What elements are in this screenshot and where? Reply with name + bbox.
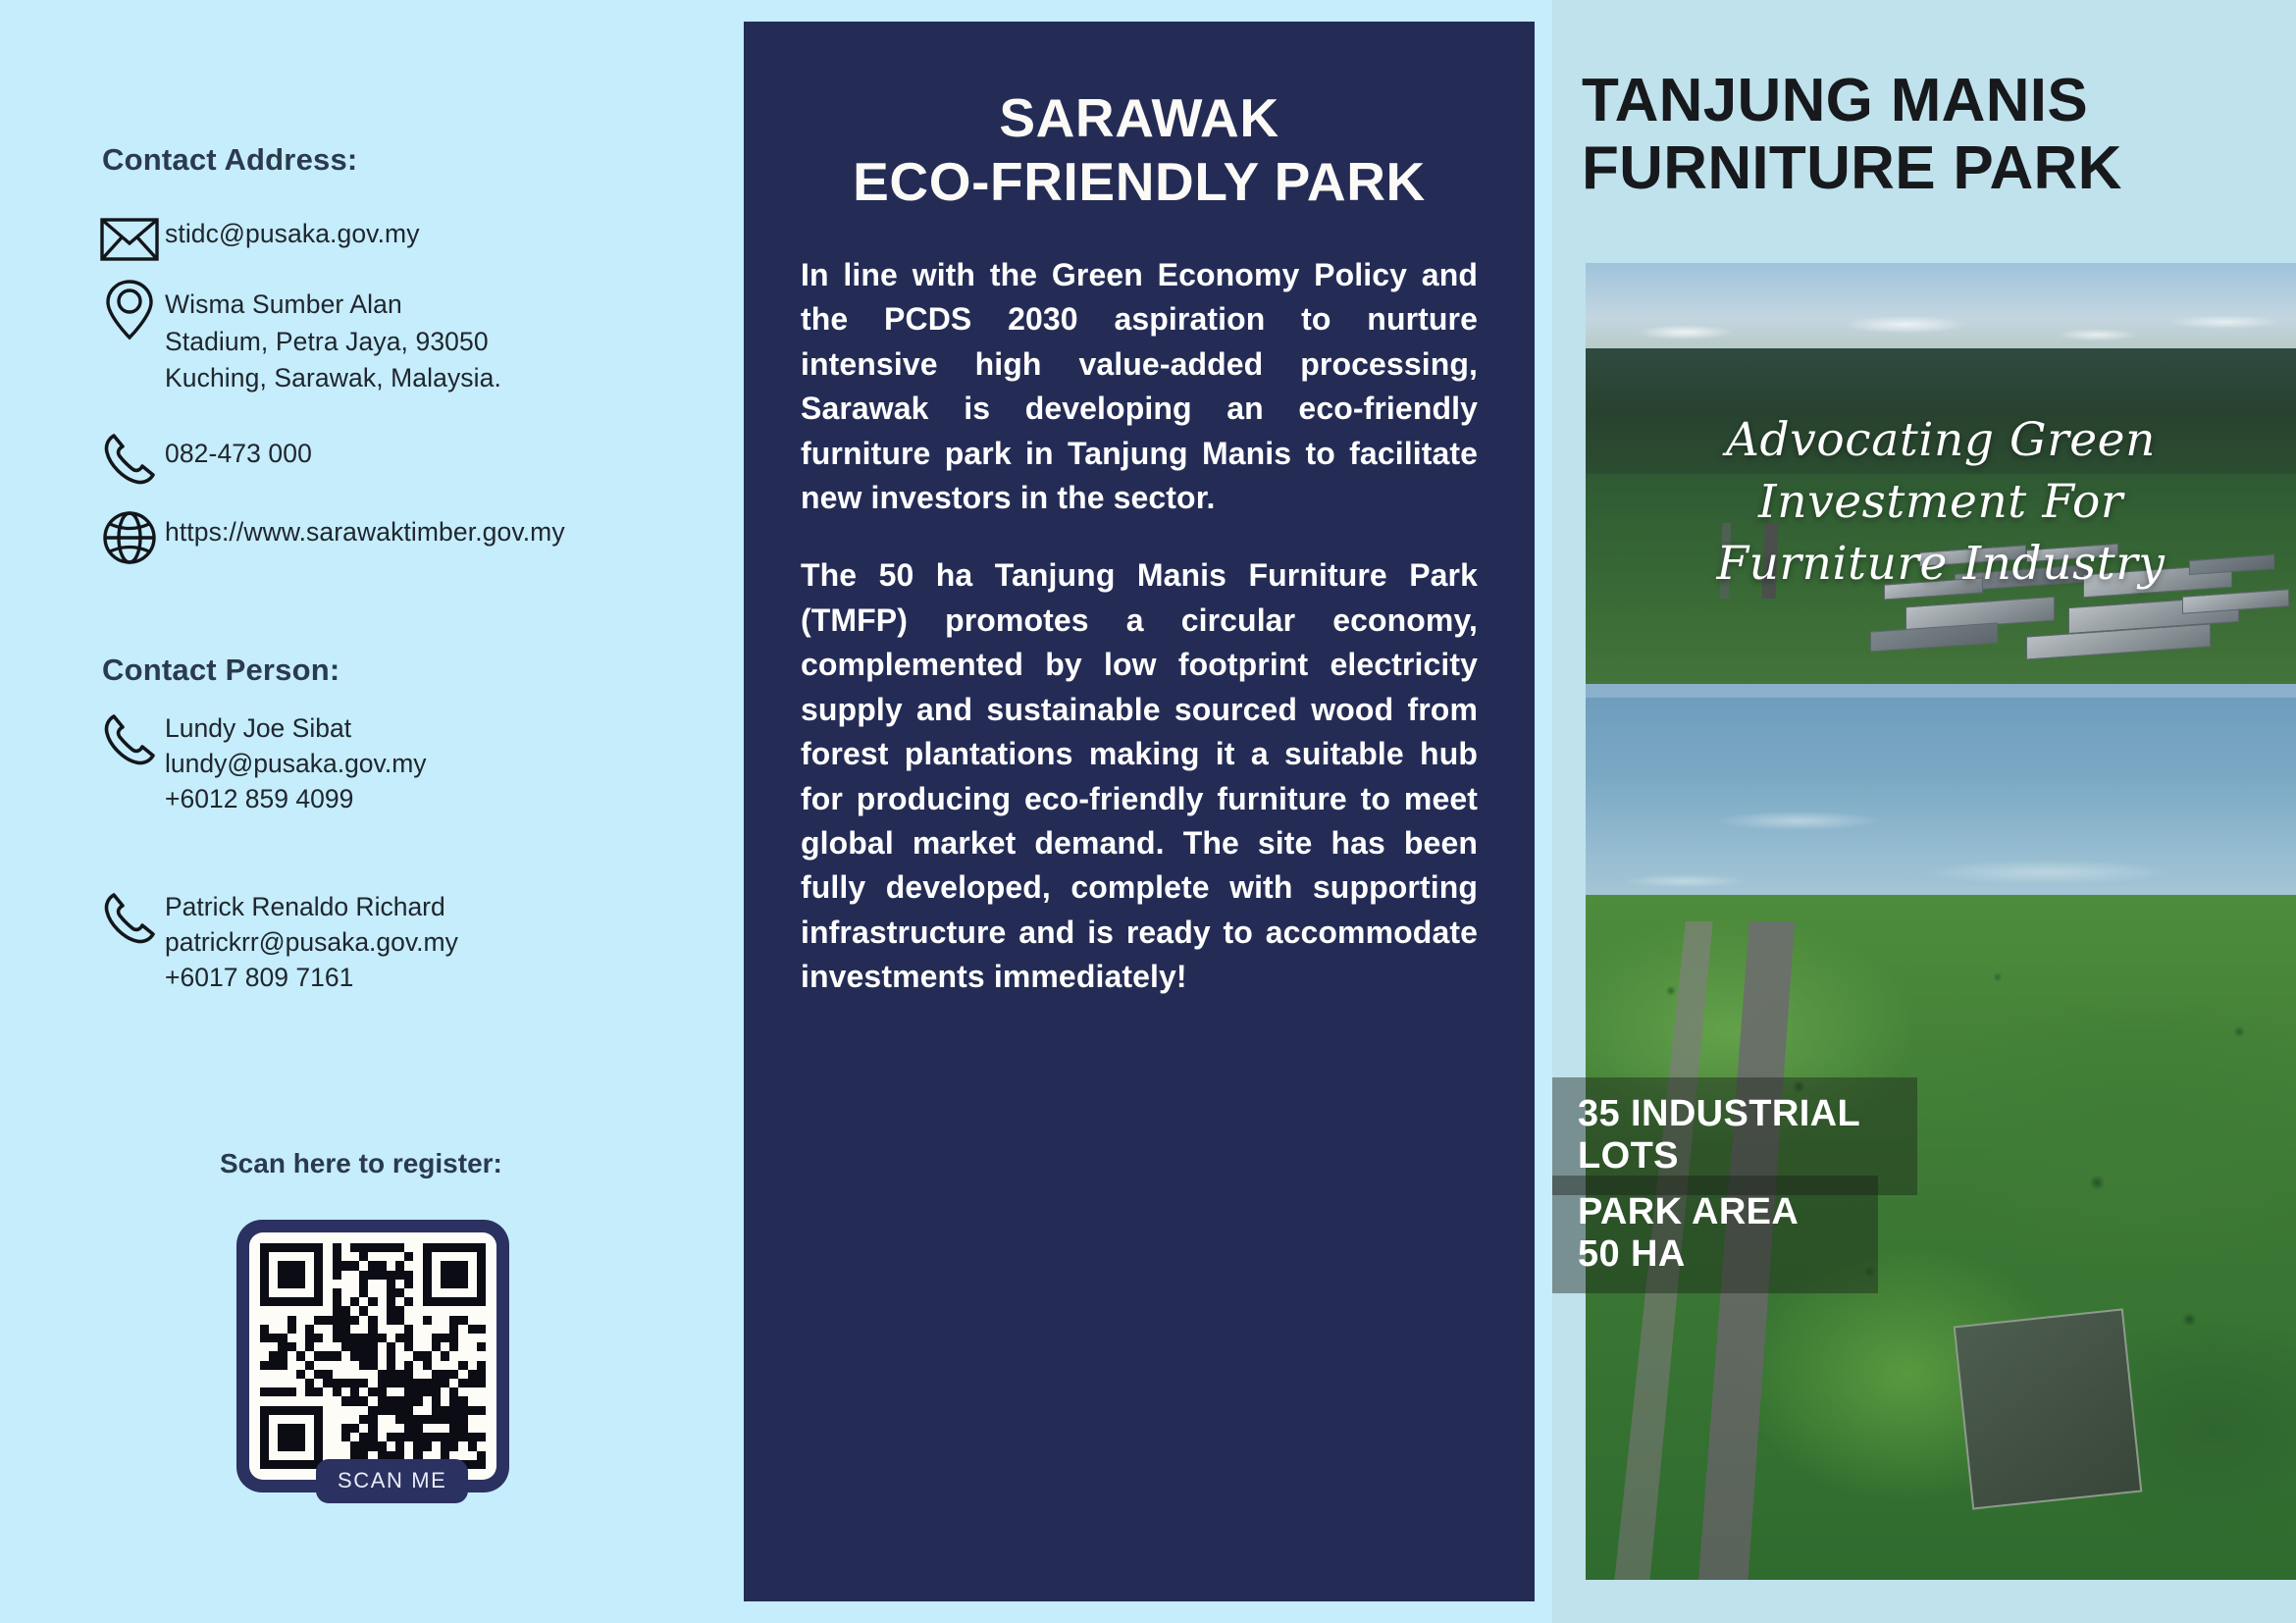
person-1-name: Lundy Joe Sibat: [165, 710, 427, 746]
globe-icon: [94, 502, 165, 573]
eco-park-paragraph-2: The 50 ha Tanjung Manis Furniture Park (…: [801, 553, 1478, 999]
photo-tagline-line-2: Furniture Industry: [1586, 534, 2296, 596]
furniture-park-title-line-2: FURNITURE PARK: [1582, 134, 2269, 202]
person-1-email[interactable]: lundy@pusaka.gov.my: [165, 746, 427, 781]
photo-sky-layer: [1586, 263, 2296, 355]
person-1-details: Lundy Joe Sibat lundy@pusaka.gov.my +601…: [165, 705, 427, 816]
eco-park-title: SARAWAK ECO-FRIENDLY PARK: [801, 86, 1478, 214]
phone-icon: [94, 424, 165, 495]
contact-person-1-row: Lundy Joe Sibat lundy@pusaka.gov.my +601…: [94, 705, 427, 816]
furniture-park-title: TANJUNG MANIS FURNITURE PARK: [1582, 67, 2269, 203]
scan-to-register-heading: Scan here to register:: [220, 1148, 502, 1179]
phone-value[interactable]: 082-473 000: [165, 424, 312, 473]
address-line-3: Kuching, Sarawak, Malaysia.: [165, 360, 630, 397]
website-value[interactable]: https://www.sarawaktimber.gov.my: [165, 502, 565, 551]
eco-park-paragraph-1: In line with the Green Economy Policy an…: [801, 253, 1478, 521]
brochure-page: Contact Address: stidc@pusaka.gov.my: [0, 0, 2296, 1623]
photo-foreground-building: [1953, 1308, 2141, 1509]
contact-phone-row: 082-473 000: [94, 424, 312, 495]
contact-address-row: Wisma Sumber Alan Stadium, Petra Jaya, 9…: [94, 275, 630, 397]
contact-email-row: stidc@pusaka.gov.my: [94, 204, 420, 275]
contact-address-heading: Contact Address:: [102, 142, 357, 178]
qr-code-modules: [260, 1243, 486, 1469]
photo-tagline: Advocating Green Investment For Furnitur…: [1586, 410, 2296, 596]
address-line-1: Wisma Sumber Alan: [165, 287, 630, 324]
contact-person-2-row: Patrick Renaldo Richard patrickrr@pusaka…: [94, 883, 458, 995]
eco-park-panel: SARAWAK ECO-FRIENDLY PARK In line with t…: [744, 22, 1535, 1601]
furniture-park-title-line-1: TANJUNG MANIS: [1582, 67, 2269, 134]
address-line-2: Stadium, Petra Jaya, 93050: [165, 324, 630, 361]
qr-code-inner: [249, 1232, 496, 1480]
photo-water-layer: [1586, 698, 2296, 921]
phone-icon: [94, 883, 165, 954]
person-2-name: Patrick Renaldo Richard: [165, 889, 458, 924]
contact-panel: Contact Address: stidc@pusaka.gov.my: [0, 0, 744, 1623]
email-value[interactable]: stidc@pusaka.gov.my: [165, 204, 420, 253]
person-2-email[interactable]: patrickrr@pusaka.gov.my: [165, 924, 458, 960]
person-2-phone[interactable]: +6017 809 7161: [165, 960, 458, 995]
contact-person-heading: Contact Person:: [102, 653, 339, 688]
contact-website-row: https://www.sarawaktimber.gov.my: [94, 502, 565, 573]
eco-park-title-line-2: ECO-FRIENDLY PARK: [801, 150, 1478, 214]
person-2-details: Patrick Renaldo Richard patrickrr@pusaka…: [165, 883, 458, 995]
furniture-park-panel: TANJUNG MANIS FURNITURE PARK: [1552, 0, 2296, 1623]
aerial-park-photo: Advocating Green Investment For Furnitur…: [1586, 263, 2296, 1580]
eco-park-body: In line with the Green Economy Policy an…: [801, 253, 1478, 1000]
park-area-badge: PARK AREA 50 HA: [1552, 1176, 1878, 1293]
photo-tagline-line-1: Advocating Green Investment For: [1586, 410, 2296, 534]
eco-park-title-line-1: SARAWAK: [801, 86, 1478, 150]
person-1-phone[interactable]: +6012 859 4099: [165, 781, 427, 816]
phone-icon: [94, 705, 165, 775]
location-pin-icon: [94, 275, 165, 345]
scan-me-badge: SCAN ME: [316, 1459, 468, 1503]
qr-code[interactable]: [236, 1220, 509, 1492]
envelope-icon: [94, 204, 165, 275]
address-value: Wisma Sumber Alan Stadium, Petra Jaya, 9…: [165, 275, 630, 397]
